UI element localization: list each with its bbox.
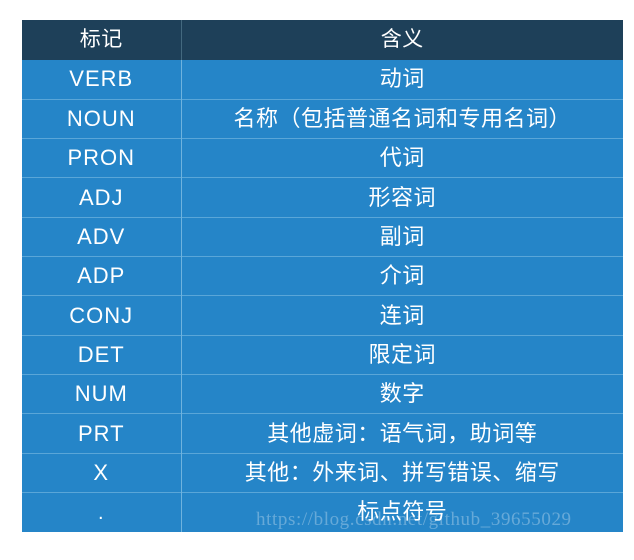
cell-meaning: 介词 [181, 257, 623, 296]
table-row: PRON 代词 [22, 139, 623, 178]
cell-meaning: 其他虚词：语气词，助词等 [181, 414, 623, 453]
cell-tag: PRT [22, 414, 181, 453]
cell-meaning: 形容词 [181, 178, 623, 217]
cell-meaning: 数字 [181, 375, 623, 414]
cell-meaning: 其他：外来词、拼写错误、缩写 [181, 453, 623, 492]
cell-meaning: 标点符号 [181, 493, 623, 532]
table-row: NOUN 名称（包括普通名词和专用名词） [22, 99, 623, 138]
cell-meaning: 名称（包括普通名词和专用名词） [181, 99, 623, 138]
table-row: DET 限定词 [22, 335, 623, 374]
cell-tag: VERB [22, 60, 181, 99]
column-header-meaning: 含义 [181, 20, 623, 60]
cell-tag: . [22, 493, 181, 532]
cell-tag: DET [22, 335, 181, 374]
cell-meaning: 代词 [181, 139, 623, 178]
cell-tag: X [22, 453, 181, 492]
cell-meaning: 连词 [181, 296, 623, 335]
table-row: ADV 副词 [22, 217, 623, 256]
cell-tag: ADV [22, 217, 181, 256]
cell-meaning: 副词 [181, 217, 623, 256]
table-row: PRT 其他虚词：语气词，助词等 [22, 414, 623, 453]
cell-meaning: 限定词 [181, 335, 623, 374]
table-header: 标记 含义 [22, 20, 623, 60]
table-row: VERB 动词 [22, 60, 623, 99]
table-row: NUM 数字 [22, 375, 623, 414]
table-row: CONJ 连词 [22, 296, 623, 335]
table-row: ADJ 形容词 [22, 178, 623, 217]
cell-tag: PRON [22, 139, 181, 178]
cell-tag: ADP [22, 257, 181, 296]
table-row: X 其他：外来词、拼写错误、缩写 [22, 453, 623, 492]
table-row: . 标点符号 [22, 493, 623, 532]
header-row: 标记 含义 [22, 20, 623, 60]
cell-tag: NUM [22, 375, 181, 414]
cell-tag: CONJ [22, 296, 181, 335]
cell-tag: ADJ [22, 178, 181, 217]
cell-meaning: 动词 [181, 60, 623, 99]
pos-tag-table: 标记 含义 VERB 动词 NOUN 名称（包括普通名词和专用名词） PRON … [22, 20, 623, 532]
column-header-tag: 标记 [22, 20, 181, 60]
table-row: ADP 介词 [22, 257, 623, 296]
table-body: VERB 动词 NOUN 名称（包括普通名词和专用名词） PRON 代词 ADJ… [22, 60, 623, 532]
cell-tag: NOUN [22, 99, 181, 138]
